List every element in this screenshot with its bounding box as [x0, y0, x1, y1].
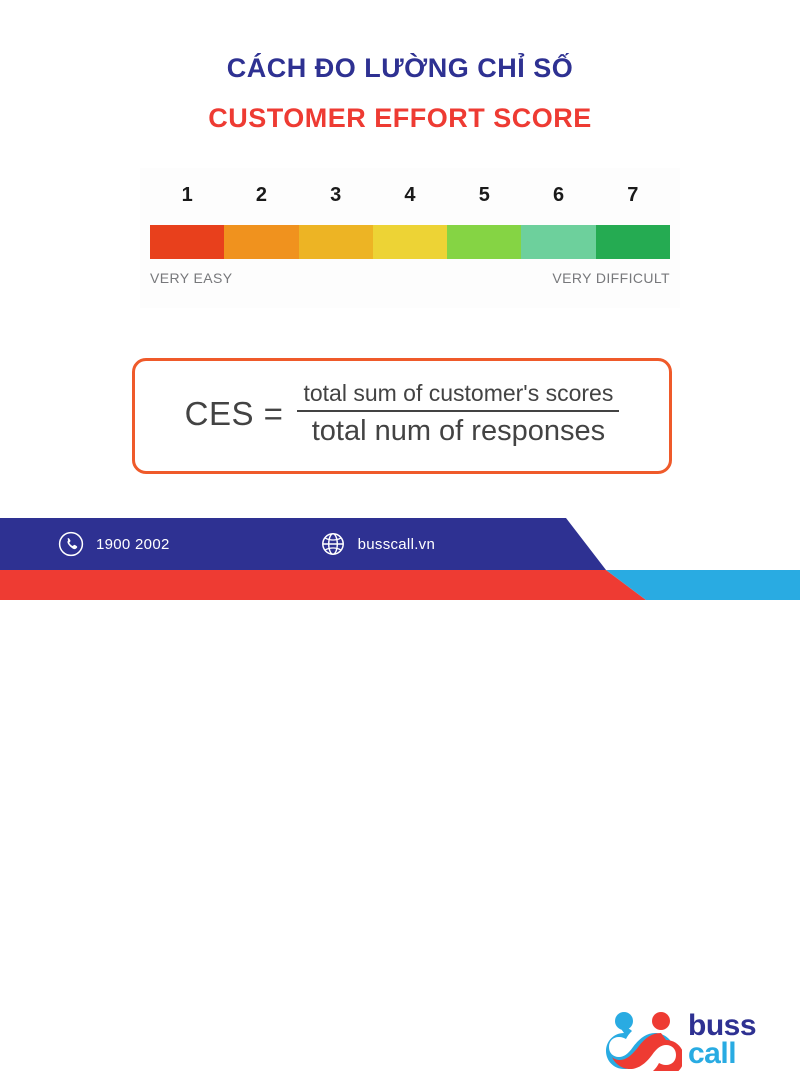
busscall-logo-text: buss call: [688, 1012, 756, 1067]
footer-phone[interactable]: 1900 2002: [58, 531, 170, 557]
footer-website-text: busscall.vn: [358, 536, 436, 553]
scale-label-low: VERY EASY: [150, 270, 232, 286]
scale-number: 7: [596, 184, 670, 207]
scale-number: 3: [299, 184, 373, 207]
scale-segment: [521, 225, 595, 259]
scale-bar: [150, 225, 670, 259]
busscall-logo[interactable]: buss call: [604, 1004, 794, 1076]
scale-segment: [596, 225, 670, 259]
formula-left-term: CES =: [185, 395, 284, 433]
scale-number: 4: [373, 184, 447, 207]
logo-body-right: [612, 1033, 682, 1071]
formula-denominator: total num of responses: [306, 412, 611, 448]
busscall-logo-mark: [604, 1009, 682, 1071]
footer-red-band: [0, 570, 646, 600]
logo-head-right: [652, 1012, 670, 1030]
scale-segment: [150, 225, 224, 259]
footer-website[interactable]: busscall.vn: [320, 531, 436, 557]
scale-segment: [373, 225, 447, 259]
formula-fraction: total sum of customer's scores total num…: [297, 380, 619, 448]
scale-number: 1: [150, 184, 224, 207]
footer-contact-list: 1900 2002 busscall.vn: [0, 518, 435, 570]
scale-label-high: VERY DIFFICULT: [552, 270, 670, 286]
scale-number: 5: [447, 184, 521, 207]
scale-number: 2: [224, 184, 298, 207]
scale-segment: [224, 225, 298, 259]
title-main: CÁCH ĐO LƯỜNG CHỈ SỐ: [0, 52, 800, 86]
formula-numerator: total sum of customer's scores: [297, 380, 619, 410]
scale-segment: [299, 225, 373, 259]
footer-phone-text: 1900 2002: [96, 536, 170, 553]
scale-number-row: 1 2 3 4 5 6 7: [150, 184, 670, 207]
ces-formula-box: CES = total sum of customer's scores tot…: [132, 358, 672, 474]
ces-scale-card: 1 2 3 4 5 6 7 VERY EASY VERY DIFFICULT: [140, 168, 680, 308]
scale-segment: [447, 225, 521, 259]
globe-icon: [320, 531, 346, 557]
title-subtitle: CUSTOMER EFFORT SCORE: [0, 102, 800, 136]
scale-number: 6: [521, 184, 595, 207]
page-footer: 1900 2002 busscall.vn buss call: [0, 500, 800, 600]
logo-word-call: call: [688, 1040, 756, 1068]
formula-expression: CES = total sum of customer's scores tot…: [185, 380, 620, 448]
scale-endpoint-labels: VERY EASY VERY DIFFICULT: [150, 270, 670, 286]
logo-word-buss: buss: [688, 1012, 756, 1040]
phone-icon: [58, 531, 84, 557]
page-title: CÁCH ĐO LƯỜNG CHỈ SỐ CUSTOMER EFFORT SCO…: [0, 52, 800, 136]
